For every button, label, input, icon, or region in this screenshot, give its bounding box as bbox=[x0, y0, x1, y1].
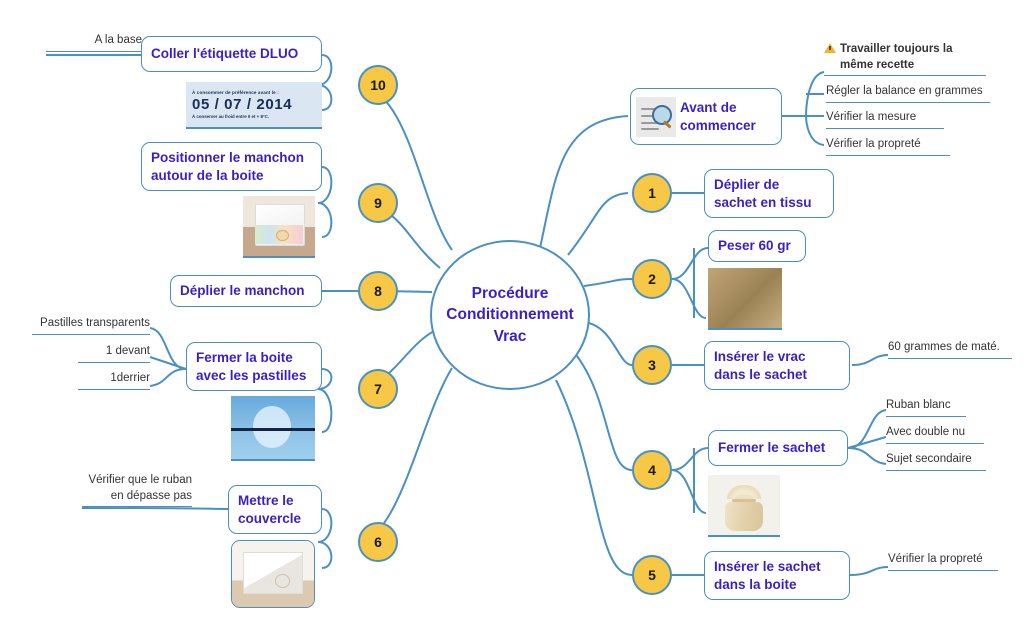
image-decorated-box bbox=[243, 196, 315, 258]
image-white-box-lid bbox=[231, 540, 315, 608]
step-number-1[interactable]: 1 bbox=[632, 173, 672, 213]
topic-positionner-manchon[interactable]: Positionner le manchon autour de la boit… bbox=[141, 142, 322, 191]
step-number-5[interactable]: 5 bbox=[632, 555, 672, 595]
topic-deplier-manchon[interactable]: Déplier le manchon bbox=[170, 275, 322, 307]
sub-sujet-secondaire[interactable]: Sujet secondaire bbox=[886, 452, 986, 471]
topic-coller-etiquette-dluo[interactable]: Coller l'étiquette DLUO bbox=[141, 36, 322, 72]
step-number-2[interactable]: 2 bbox=[632, 259, 672, 299]
step-number-9[interactable]: 9 bbox=[358, 183, 398, 223]
dluo-top-text: À consommer de préférence avant le : bbox=[192, 90, 316, 95]
sub-avec-double-nu[interactable]: Avec double nu bbox=[886, 425, 984, 444]
sub-1-derrier[interactable]: 1derrier bbox=[78, 371, 150, 390]
sub-travailler-line1: Travailler toujours la bbox=[840, 43, 952, 55]
topic-peser-60gr[interactable]: Peser 60 gr bbox=[708, 230, 806, 262]
sub-verifier-proprete-intro[interactable]: Vérifier la propreté bbox=[826, 137, 950, 156]
document-magnifier-icon bbox=[636, 97, 676, 137]
central-topic[interactable]: Procédure Conditionnement Vrac bbox=[430, 240, 590, 390]
central-line-2: Conditionnement bbox=[446, 306, 573, 323]
step-number-3[interactable]: 3 bbox=[632, 345, 672, 385]
sub-travailler-line2: même recette bbox=[840, 59, 914, 71]
image-fabric-pouch bbox=[708, 475, 780, 537]
topic-fermer-sachet[interactable]: Fermer le sachet bbox=[708, 430, 848, 466]
topic-inserer-sachet-boite[interactable]: Insérer le sachet dans la boite bbox=[704, 551, 850, 600]
topic-avant-de-commencer[interactable]: Avant de commencer bbox=[630, 88, 782, 145]
dluo-bottom-text: À conserver au froid entre 0 et + 8°C. bbox=[192, 114, 316, 119]
sub-1-devant[interactable]: 1 devant bbox=[78, 344, 150, 363]
step-number-7[interactable]: 7 bbox=[358, 369, 398, 409]
step-number-10[interactable]: 10 bbox=[358, 65, 398, 105]
sub-travailler-meme-recette[interactable]: Travailler toujours la même recette bbox=[824, 42, 986, 76]
warning-icon bbox=[824, 43, 836, 53]
central-line-1: Procédure bbox=[472, 285, 549, 302]
sub-ruban-blanc[interactable]: Ruban blanc bbox=[886, 398, 966, 417]
image-dluo-label: À consommer de préférence avant le : 05 … bbox=[186, 82, 322, 129]
sub-verifier-proprete-step5[interactable]: Vérifier la propreté bbox=[888, 552, 998, 571]
sub-ruban-line2: en dépasse pas bbox=[111, 490, 192, 502]
mindmap-canvas: Procédure Conditionnement Vrac Avant de … bbox=[0, 0, 1024, 644]
step-number-8[interactable]: 8 bbox=[358, 271, 398, 311]
sub-regler-balance[interactable]: Régler la balance en grammes bbox=[826, 84, 990, 103]
sub-verifier-mesure[interactable]: Vérifier la mesure bbox=[826, 110, 944, 129]
avant-label-line1: Avant de bbox=[680, 100, 737, 115]
topic-deplier-sachet[interactable]: Déplier de sachet en tissu bbox=[704, 169, 834, 218]
sub-60-grammes-mate[interactable]: 60 grammes de maté. bbox=[888, 340, 1012, 359]
topic-fermer-boite-pastilles[interactable]: Fermer la boite avec les pastilles bbox=[186, 342, 322, 391]
step-number-6[interactable]: 6 bbox=[358, 522, 398, 562]
avant-label-line2: commencer bbox=[680, 118, 756, 133]
sub-pastilles-transparents[interactable]: Pastilles transparents bbox=[32, 316, 150, 335]
sub-ruban-line1: Vérifier que le ruban bbox=[88, 474, 192, 486]
image-transparent-sticker bbox=[231, 396, 315, 461]
step-number-4[interactable]: 4 bbox=[632, 450, 672, 490]
dluo-date: 05 / 07 / 2014 bbox=[192, 96, 316, 113]
sub-a-la-base[interactable]: A la base bbox=[46, 33, 142, 52]
central-line-3: Vrac bbox=[494, 328, 527, 345]
sub-verifier-ruban[interactable]: Vérifier que le ruban en dépasse pas bbox=[82, 473, 192, 507]
image-herbs-bulk bbox=[708, 268, 782, 330]
topic-mettre-couvercle[interactable]: Mettre le couvercle bbox=[228, 485, 322, 534]
topic-inserer-vrac[interactable]: Insérer le vrac dans le sachet bbox=[704, 341, 850, 390]
